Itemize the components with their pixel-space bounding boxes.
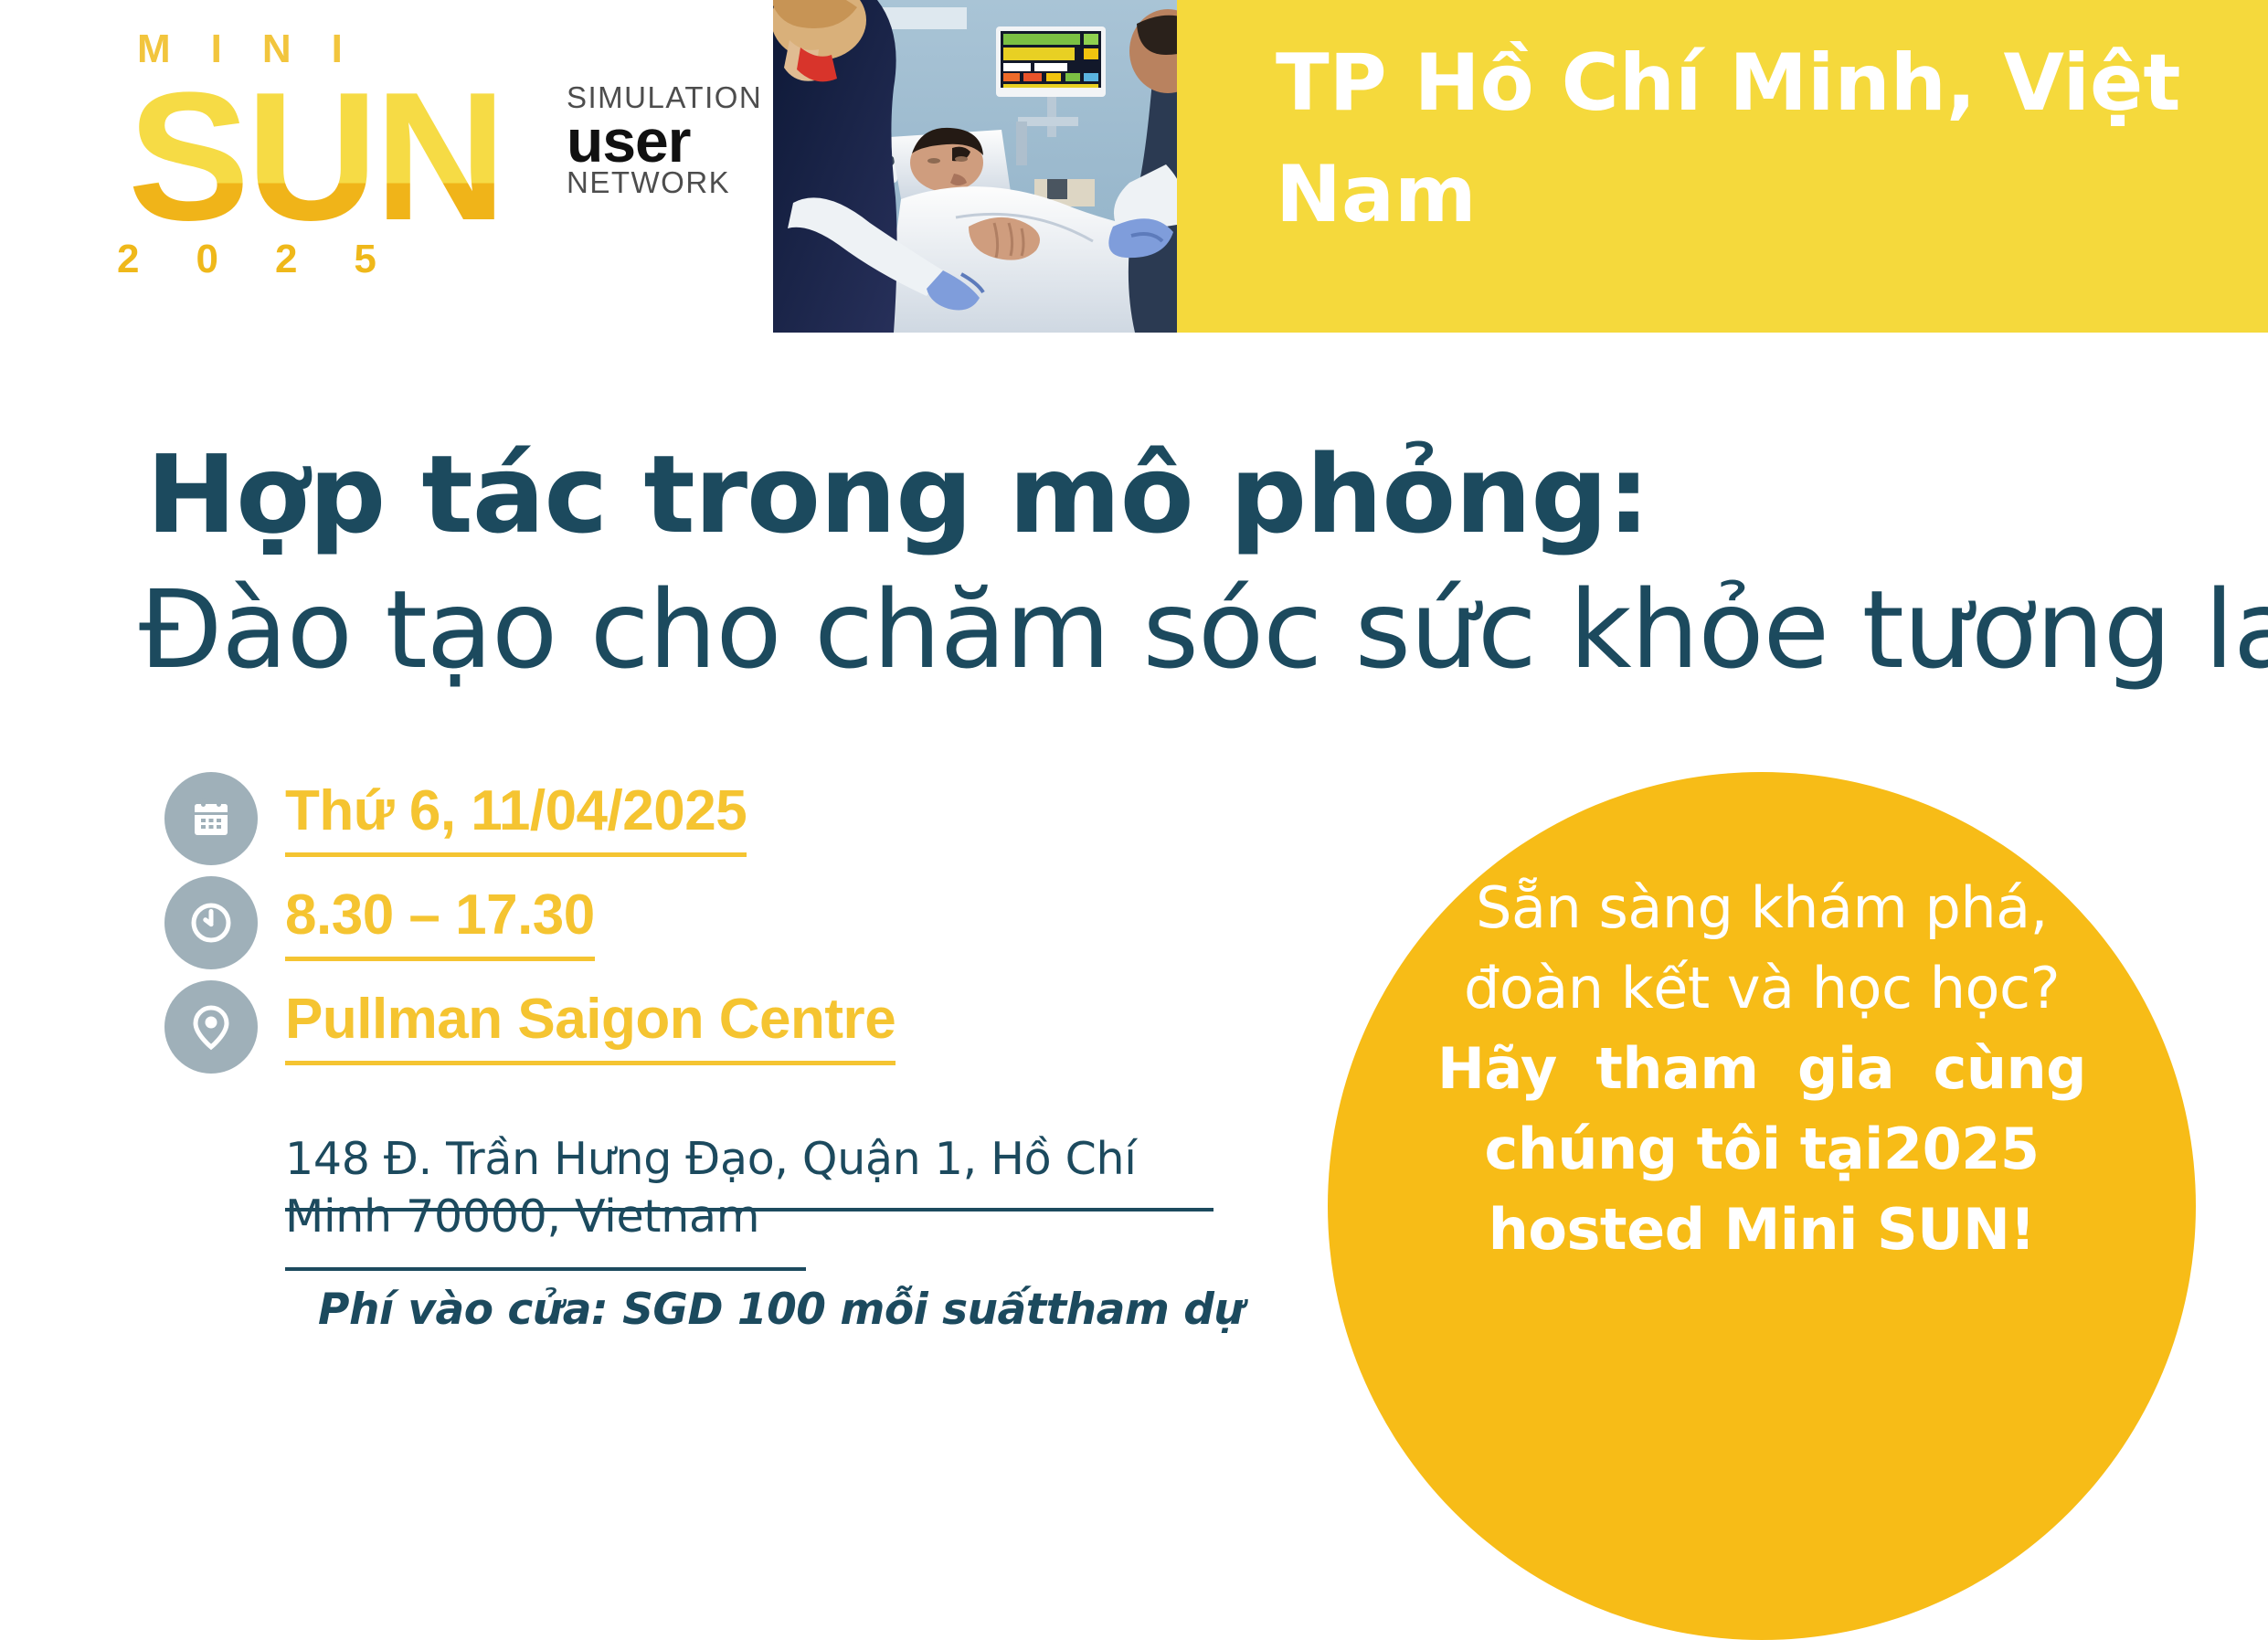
headline-secondary: Đào tạo cho chăm sóc sức khỏe tương lai [139,571,2268,690]
logo-subtitle-block: SIMULATION user NETWORK [567,82,795,199]
detail-body-venue: Pullman Saigon Centre [285,980,896,1065]
location-banner: TP Hồ Chí Minh, Việt Nam [1177,0,2268,333]
clock-icon [164,876,258,969]
logo-sun-word: SUN [128,66,503,249]
detail-row-venue: Pullman Saigon Centre [164,980,1243,1074]
logo-year-text: 2025 [117,239,433,280]
logo-user-text: user [567,112,795,170]
cta-circle: Sẵn sàng khám phá, đoàn kết và học học? … [1328,772,2196,1640]
address-divider-top [285,1208,1213,1211]
detail-row-time: 8.30 – 17.30 [164,876,1243,969]
logo-block: MINI SUN SIMULATION user NETWORK 2025 [0,0,773,333]
cta-line-5: hosted Mini SUN! [1437,1190,2086,1270]
cta-line-4: chúng tôi tại2025 [1437,1109,2086,1190]
detail-body-date: Thứ 6, 11/04/2025 [285,772,747,857]
event-venue-text: Pullman Saigon Centre [285,991,896,1065]
cta-line-2: đoàn kết và học học? [1437,948,2086,1029]
photo-artwork [773,0,1177,333]
banner-location-text: TP Hồ Chí Minh, Việt Nam [1276,27,2268,250]
calendar-icon [164,772,258,865]
address-divider-bottom [285,1267,806,1271]
event-address-text: 148 Đ. Trần Hưng Đạo, Quận 1, Hồ Chí Min… [285,1131,1208,1245]
cta-circle-text-block: Sẵn sàng khám phá, đoàn kết và học học? … [1328,868,2196,1270]
page-header: MINI SUN SIMULATION user NETWORK 2025 [0,0,2268,333]
detail-row-date: Thứ 6, 11/04/2025 [164,772,1243,865]
detail-body-time: 8.30 – 17.30 [285,876,595,961]
headline-primary: Hợp tác trong mô phỏng: [146,436,1649,555]
cta-line-1: Sẵn sàng khám phá, [1437,868,2086,948]
cta-line-3: Hãy tham gia cùng [1437,1029,2086,1109]
event-time-text: 8.30 – 17.30 [285,887,595,961]
location-pin-icon [164,980,258,1074]
logo-network-text: NETWORK [567,167,795,199]
event-date-text: Thứ 6, 11/04/2025 [285,783,747,857]
event-details-list: Thứ 6, 11/04/2025 8.30 – 17.30 Pullman S… [164,772,1243,1074]
simulation-photo [773,0,1177,333]
event-fee-text: Phí vào cửa: SGD 100 mỗi suấttham dự [318,1288,1244,1331]
